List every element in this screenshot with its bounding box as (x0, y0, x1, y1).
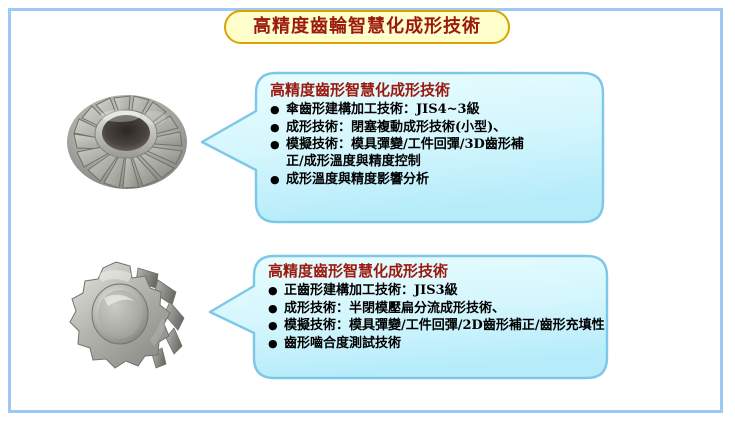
bevel-gear-photo (50, 72, 205, 204)
list-item-line: 傘齒形建構加工技術：JIS4~3級 (286, 102, 594, 119)
list-item: ● 模擬技術：模具彈變/工件回彈/3D齒形補 正/成形溫度與精度控制 (270, 137, 594, 171)
callout-bevel-bullets: ● 傘齒形建構加工技術：JIS4~3級 ● 成形技術：閉塞複動成形技術(小型)、… (270, 102, 594, 189)
callout-bevel-gear: 高精度齒形智慧化成形技術 ● 傘齒形建構加工技術：JIS4~3級 ● 成形技術：… (198, 70, 606, 225)
callout-spur-gear: 高精度齒形智慧化成形技術 ● 正齒形建構加工技術：JIS3級 ● 成形技術：半閉… (206, 253, 610, 381)
list-item: ● 模擬技術：模具彈變/工件回彈/2D齒形補正/齒形充填性 (268, 318, 598, 335)
list-item: ● 傘齒形建構加工技術：JIS4~3級 (270, 102, 594, 119)
list-item-line: 正齒形建構加工技術：JIS3級 (284, 283, 598, 300)
list-item-line: 模擬技術：模具彈變/工件回彈/2D齒形補正/齒形充填性 (284, 318, 598, 335)
list-item-line: 成形技術：半閉模壓扁分流成形技術、 (284, 301, 598, 318)
list-item-line: 成形技術：閉塞複動成形技術(小型)、 (286, 120, 594, 137)
list-item-line: 齒形嚙合度測試技術 (284, 336, 598, 353)
callout-bevel-content: 高精度齒形智慧化成形技術 ● 傘齒形建構加工技術：JIS4~3級 ● 成形技術：… (270, 82, 594, 190)
slide-page: 高精度齒輪智慧化成形技術 (0, 0, 735, 423)
list-item-line: 模擬技術：模具彈變/工件回彈/3D齒形補 (286, 137, 594, 154)
list-item: ● 正齒形建構加工技術：JIS3級 (268, 283, 598, 300)
bullet-icon: ● (268, 336, 278, 352)
list-item: ● 成形技術：半閉模壓扁分流成形技術、 (268, 301, 598, 318)
bullet-icon: ● (270, 102, 280, 118)
bullet-icon: ● (268, 318, 278, 334)
callout-spur-content: 高精度齒形智慧化成形技術 ● 正齒形建構加工技術：JIS3級 ● 成形技術：半閉… (268, 263, 598, 354)
bullet-icon: ● (270, 137, 280, 153)
list-item: ● 成形溫度與精度影響分析 (270, 172, 594, 189)
callout-spur-heading: 高精度齒形智慧化成形技術 (268, 263, 598, 281)
page-title-plaque: 高精度齒輪智慧化成形技術 (224, 10, 510, 44)
list-item-line: 正/成形溫度與精度控制 (286, 154, 594, 171)
spur-gear-photo (46, 252, 201, 378)
bullet-icon: ● (270, 120, 280, 136)
bullet-icon: ● (268, 301, 278, 317)
list-item-line: 成形溫度與精度影響分析 (286, 172, 594, 189)
bullet-icon: ● (270, 172, 280, 188)
callout-spur-bullets: ● 正齒形建構加工技術：JIS3級 ● 成形技術：半閉模壓扁分流成形技術、 ● … (268, 283, 598, 354)
list-item: ● 成形技術：閉塞複動成形技術(小型)、 (270, 120, 594, 137)
list-item: ● 齒形嚙合度測試技術 (268, 336, 598, 353)
callout-bevel-heading: 高精度齒形智慧化成形技術 (270, 82, 594, 100)
page-title: 高精度齒輪智慧化成形技術 (253, 18, 481, 36)
bullet-icon: ● (268, 283, 278, 299)
